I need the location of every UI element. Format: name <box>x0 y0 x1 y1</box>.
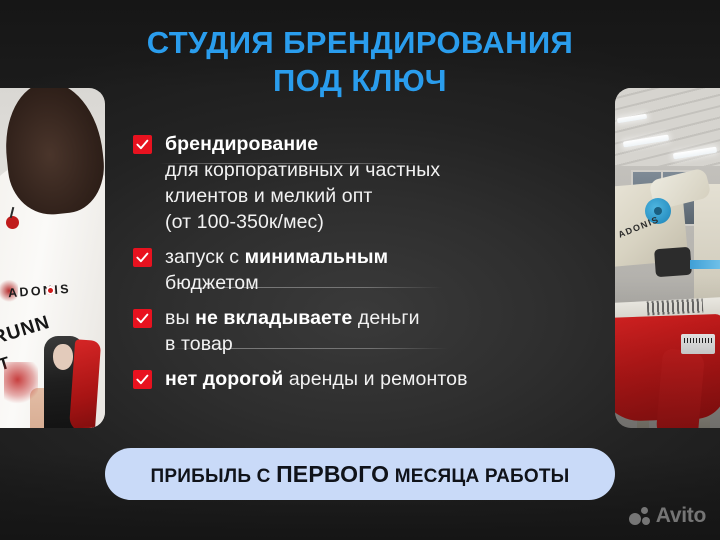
checkbox-checked-icon <box>133 248 152 267</box>
benefit-text-plain: в товар <box>165 333 233 355</box>
benefit-text-emphasis: нет дорогой <box>165 368 283 390</box>
benefit-text-plain: вы <box>165 307 195 329</box>
checkbox-checked-icon <box>133 135 152 154</box>
title-line-2: ПОД КЛЮЧ <box>0 62 720 100</box>
benefit-item-text: вы не вкладываете деньгив товар <box>165 305 420 357</box>
benefit-item: вы не вкладываете деньгив товар <box>133 305 611 357</box>
avito-wordmark: Avito <box>656 504 706 528</box>
benefit-list: брендированиедля корпоративных и частных… <box>133 131 611 401</box>
benefit-item-line: нет дорогой аренды и ремонтов <box>165 366 468 392</box>
benefit-item-text: брендированиедля корпоративных и частных… <box>165 131 440 235</box>
benefit-item-line: клиентов и мелкий опт <box>165 183 440 209</box>
benefit-text-emphasis: минимальным <box>245 246 389 268</box>
advertisement-creative: СТУДИЯ БРЕНДИРОВАНИЯ ПОД КЛЮЧ ADONIS RUN… <box>0 0 720 540</box>
title-line-1: СТУДИЯ БРЕНДИРОВАНИЯ <box>147 25 573 60</box>
paint-splatter-bottom <box>76 426 102 428</box>
benefit-item: брендированиедля корпоративных и частных… <box>133 131 611 235</box>
benefit-item-line: (от 100-350к/мес) <box>165 209 440 235</box>
left-photo-content: ADONIS RUNN UT <box>0 88 105 428</box>
benefit-text-plain: (от 100-350к/мес) <box>165 211 324 233</box>
profit-banner: ПРИБЫЛЬ С ПЕРВОГО МЕСЯЦА РАБОТЫ <box>105 448 615 500</box>
checkbox-checked-icon <box>133 370 152 389</box>
benefit-text-emphasis: не вкладываете <box>195 307 352 329</box>
benefit-text-emphasis: брендирование <box>165 133 318 155</box>
model-in-branded-hoodie-photo: ADONIS RUNN UT <box>0 88 105 428</box>
benefit-item-line: брендирование <box>165 131 440 157</box>
banner-text-after: МЕСЯЦА РАБОТЫ <box>389 466 569 487</box>
benefit-item-line: запуск с минимальным <box>165 244 388 270</box>
benefit-item-line: бюджетом <box>165 270 388 296</box>
benefit-text-plain: аренды и ремонтов <box>283 368 467 390</box>
benefit-text-plain: клиентов и мелкий опт <box>165 185 372 207</box>
benefit-item-text: нет дорогой аренды и ремонтов <box>165 366 468 392</box>
avito-watermark: Avito <box>629 504 706 528</box>
paint-splatter-main <box>4 362 38 406</box>
right-photo-vignette <box>615 88 720 428</box>
benefit-text-plain: для корпоративных и частных <box>165 159 440 181</box>
benefit-item-line: в товар <box>165 331 420 357</box>
benefit-item-line: вы не вкладываете деньги <box>165 305 420 331</box>
page-title: СТУДИЯ БРЕНДИРОВАНИЯ ПОД КЛЮЧ <box>0 24 720 100</box>
cherry-graphic <box>6 216 19 229</box>
benefit-item: нет дорогой аренды и ремонтов <box>133 366 611 392</box>
banner-text-highlight: ПЕРВОГО <box>276 461 389 487</box>
benefit-text-plain: бюджетом <box>165 272 259 294</box>
benefit-text-plain: деньги <box>352 307 419 329</box>
avito-logo-icon <box>629 507 651 526</box>
benefit-item: запуск с минимальнымбюджетом <box>133 244 611 296</box>
banner-text-before: ПРИБЫЛЬ С <box>151 466 277 487</box>
right-photo-content: ADONIS <box>615 88 720 428</box>
benefit-item-line: для корпоративных и частных <box>165 157 440 183</box>
benefit-text-plain: запуск с <box>165 246 245 268</box>
checkbox-checked-icon <box>133 309 152 328</box>
benefit-item-text: запуск с минимальнымбюджетом <box>165 244 388 296</box>
profit-banner-text: ПРИБЫЛЬ С ПЕРВОГО МЕСЯЦА РАБОТЫ <box>151 461 570 488</box>
print-workshop-photo: ADONIS <box>615 88 720 428</box>
